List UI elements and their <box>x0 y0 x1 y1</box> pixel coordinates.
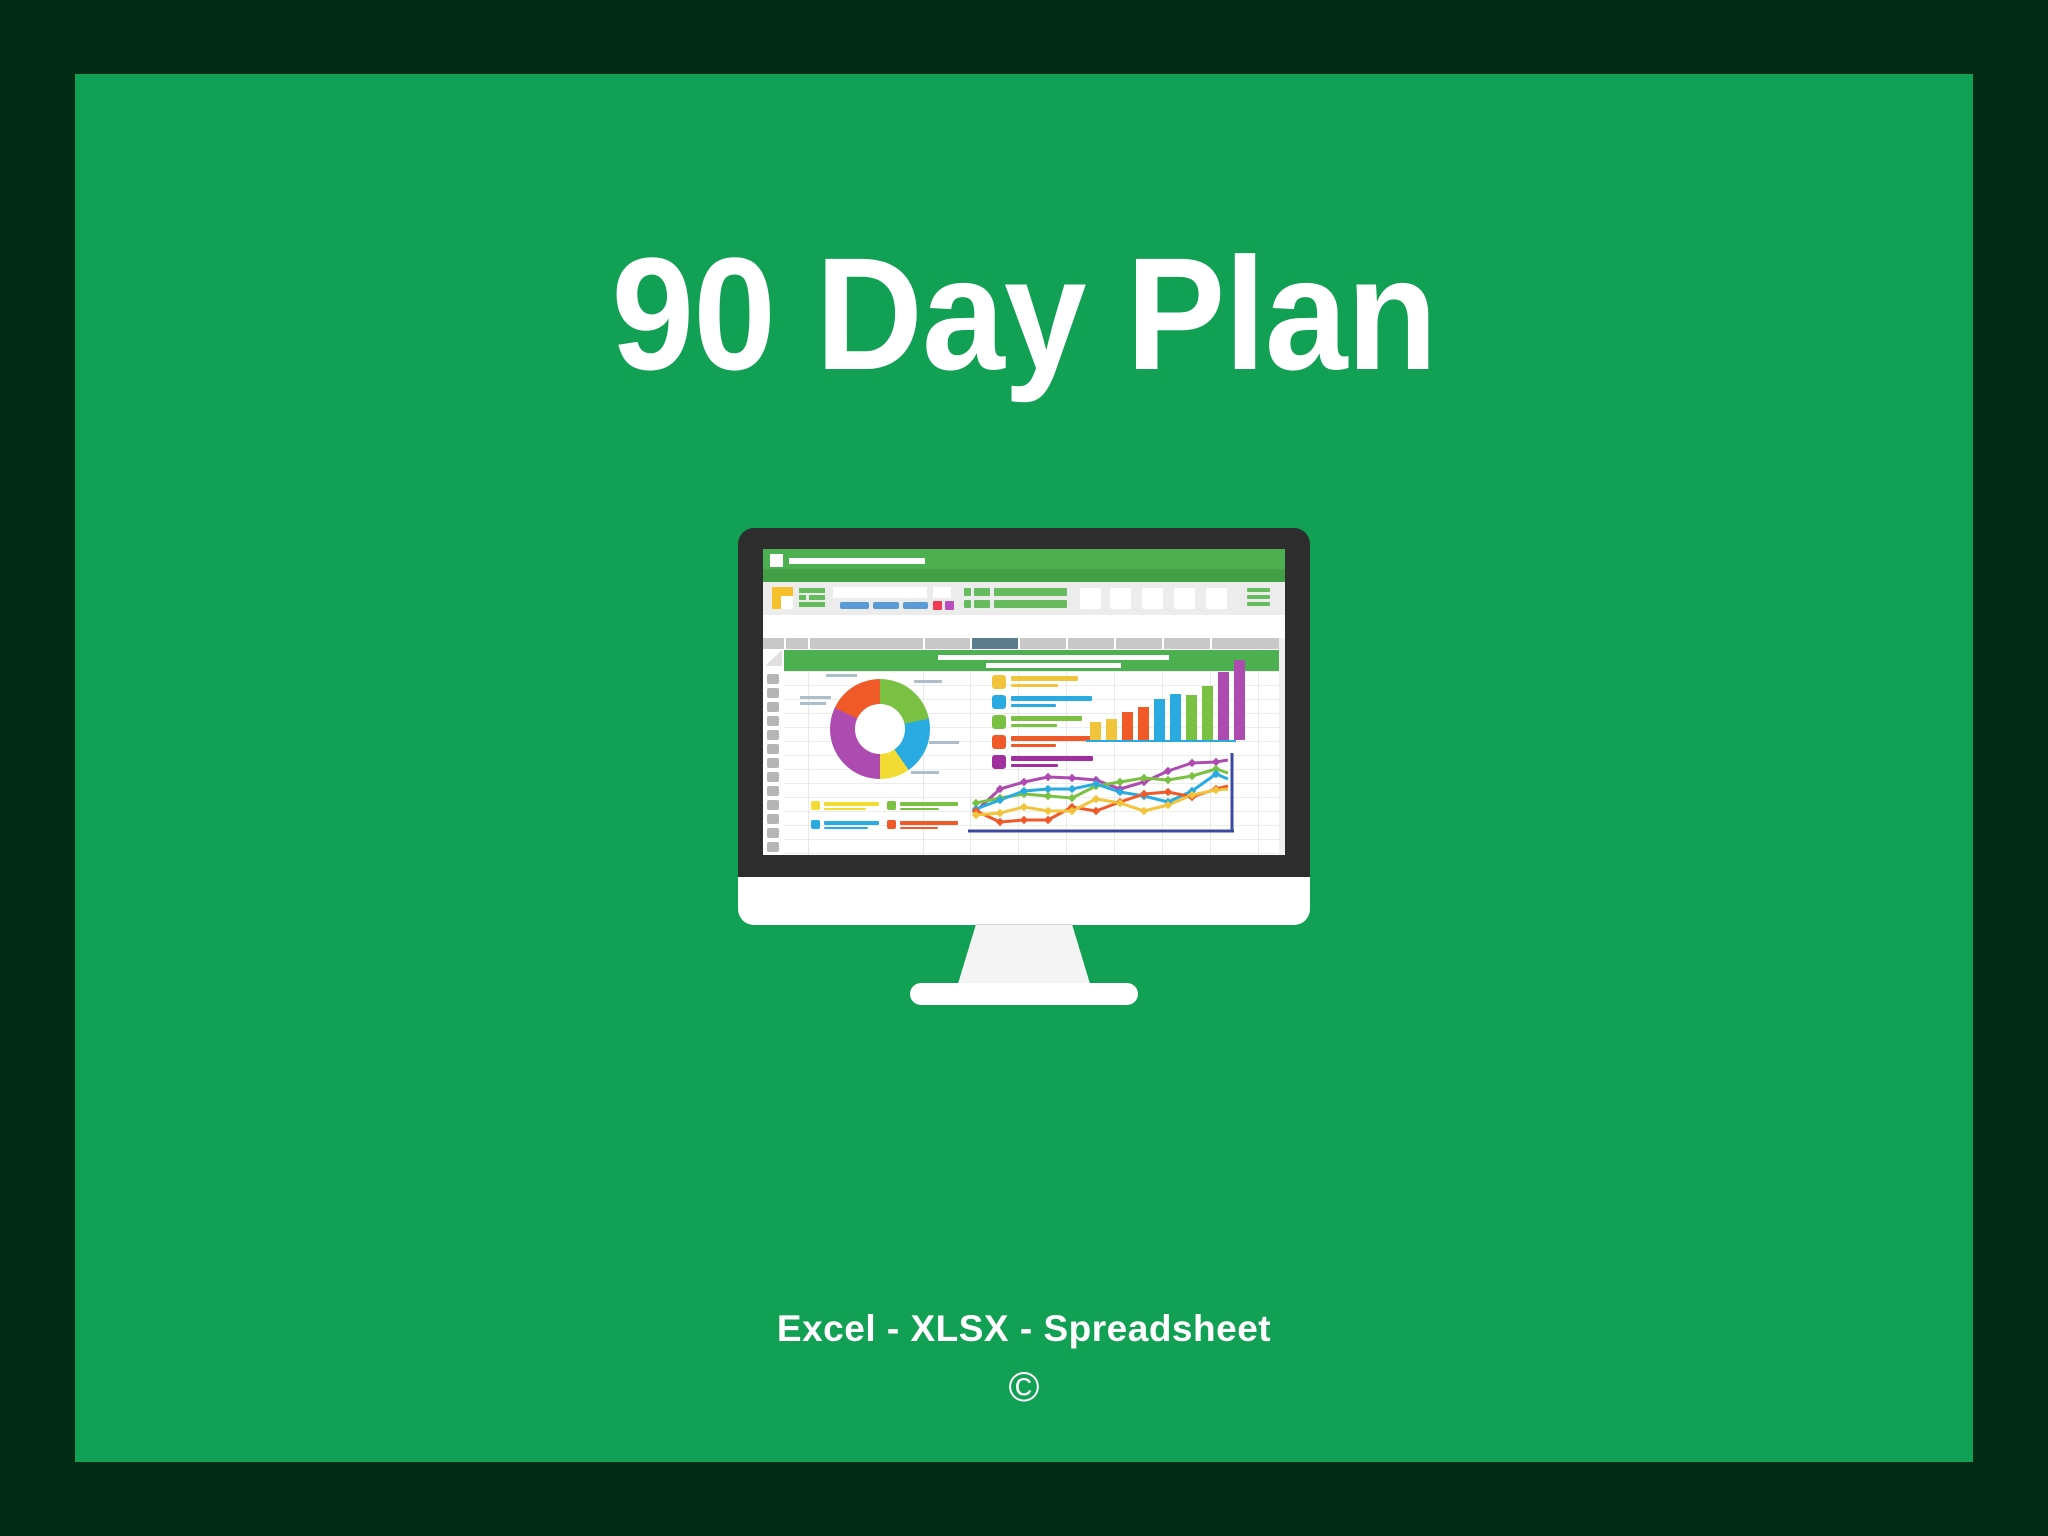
donut-legend-bar-sub <box>900 827 938 829</box>
bar-10[interactable] <box>1234 660 1245 740</box>
fill-color-swatch[interactable] <box>933 601 942 610</box>
donut-legend-swatch-green[interactable] <box>887 801 896 810</box>
grid-line <box>1258 649 1259 855</box>
row-header[interactable] <box>767 786 779 796</box>
series-legend-bar <box>1011 716 1082 721</box>
donut-legend-bar-sub <box>824 827 868 829</box>
bar-1[interactable] <box>1090 722 1101 740</box>
row-header[interactable] <box>767 842 779 852</box>
vertical-scrollbar[interactable] <box>1279 638 1285 855</box>
caption-text: Excel - XLSX - Spreadsheet <box>75 1309 1973 1350</box>
donut-legend-bar <box>824 821 879 825</box>
column-divider <box>1114 638 1116 649</box>
font-size-field[interactable] <box>933 587 951 598</box>
page-title: 90 Day Plan <box>141 234 1906 394</box>
series-legend-swatch-green[interactable] <box>992 715 1006 729</box>
text-color-swatch[interactable] <box>945 601 954 610</box>
font-bar-4[interactable] <box>799 602 825 607</box>
bar-3[interactable] <box>1122 712 1133 740</box>
row-header[interactable] <box>767 730 779 740</box>
series-legend-swatch-yellow[interactable] <box>992 675 1006 689</box>
hamburger-menu-icon-line3 <box>1247 602 1270 606</box>
monitor-stand-base <box>910 983 1138 1005</box>
monitor-illustration <box>738 528 1310 1005</box>
series-legend-bar <box>1011 676 1078 681</box>
font-name-field[interactable] <box>833 587 927 598</box>
cell-button-4[interactable] <box>1174 588 1195 609</box>
style-icon-3[interactable] <box>964 600 971 608</box>
poster-canvas: 90 Day Plan <box>0 0 2048 1536</box>
donut-callout-label <box>826 674 857 677</box>
cell-button-2[interactable] <box>1110 588 1131 609</box>
row-header[interactable] <box>767 688 779 698</box>
column-divider <box>1210 638 1212 649</box>
column-divider <box>1018 638 1020 649</box>
donut-legend-bar <box>900 802 958 806</box>
donut-callout-label <box>914 680 942 683</box>
row-header[interactable] <box>767 800 779 810</box>
cell-button-1[interactable] <box>1080 588 1101 609</box>
row-header[interactable] <box>767 828 779 838</box>
app-titlebar-secondary <box>763 569 1285 582</box>
donut-callout-label <box>929 741 959 744</box>
poster-inner-panel: 90 Day Plan <box>75 74 1973 1462</box>
document-name-bar <box>789 558 925 564</box>
column-divider <box>1162 638 1164 649</box>
row-header[interactable] <box>767 674 779 684</box>
bar-2[interactable] <box>1106 719 1117 740</box>
column-divider <box>1066 638 1068 649</box>
row-header[interactable] <box>767 758 779 768</box>
column-header-selected[interactable] <box>972 638 1018 649</box>
series-legend-bar-sub <box>1011 684 1058 687</box>
spreadsheet-screen <box>763 549 1285 855</box>
align-left-button[interactable] <box>840 602 869 609</box>
bar-chart[interactable] <box>1086 663 1236 743</box>
sheet-grid[interactable] <box>763 649 1285 855</box>
row-header[interactable] <box>767 744 779 754</box>
style-icon-4[interactable] <box>974 600 990 608</box>
font-bar-2[interactable] <box>799 595 806 600</box>
row-header[interactable] <box>767 814 779 824</box>
column-header-row <box>763 638 1285 649</box>
hamburger-menu-icon[interactable] <box>1247 588 1270 592</box>
formula-input[interactable] <box>861 621 1277 633</box>
donut-legend-swatch-yellow[interactable] <box>811 801 820 810</box>
line-chart-svg <box>966 745 1236 837</box>
cell-button-5[interactable] <box>1206 588 1227 609</box>
font-bar-1[interactable] <box>799 588 825 593</box>
bar-6[interactable] <box>1170 694 1181 740</box>
series-legend-bar <box>1011 696 1092 701</box>
section-title-line-1 <box>938 655 1169 660</box>
series-legend-swatch-blue[interactable] <box>992 695 1006 709</box>
monitor-stand-neck <box>957 925 1091 987</box>
row-header[interactable] <box>767 702 779 712</box>
donut-legend-swatch-blue[interactable] <box>811 820 820 829</box>
row-header[interactable] <box>767 716 779 726</box>
style-bar-1[interactable] <box>994 588 1067 596</box>
paste-icon-notch <box>781 596 793 609</box>
align-center-button[interactable] <box>873 602 899 609</box>
donut-callout-label <box>800 696 831 699</box>
hamburger-menu-icon-line2 <box>1247 595 1270 599</box>
series-legend-bar-sub <box>1011 704 1056 707</box>
column-divider <box>970 638 972 649</box>
donut-callout-label <box>911 771 939 774</box>
bar-7[interactable] <box>1186 695 1197 740</box>
grid-line <box>808 649 809 855</box>
ribbon-toolbar[interactable] <box>763 582 1285 615</box>
donut-callout-label <box>800 702 826 705</box>
donut-legend-bar <box>900 821 958 825</box>
copyright-symbol: © <box>75 1364 1973 1410</box>
bar-9[interactable] <box>1218 672 1229 740</box>
cell-button-3[interactable] <box>1142 588 1163 609</box>
donut-chart-hole <box>855 704 905 754</box>
style-bar-2[interactable] <box>994 600 1067 608</box>
name-box[interactable] <box>771 621 849 633</box>
bar-5[interactable] <box>1154 699 1165 740</box>
row-header[interactable] <box>767 772 779 782</box>
line-chart[interactable] <box>966 745 1236 837</box>
donut-legend-bar <box>824 802 879 806</box>
series-legend-bar <box>1011 736 1092 741</box>
column-divider <box>808 638 810 649</box>
style-icon-2[interactable] <box>974 588 990 596</box>
column-divider <box>923 638 925 649</box>
column-divider <box>784 638 786 649</box>
monitor-chin <box>738 877 1310 925</box>
font-bar-3[interactable] <box>809 595 825 600</box>
donut-legend-bar-sub <box>824 808 866 810</box>
bar-chart-axis <box>1086 740 1236 742</box>
excel-logo-icon <box>770 554 783 567</box>
align-right-button[interactable] <box>903 602 928 609</box>
bar-4[interactable] <box>1138 707 1149 740</box>
donut-legend-swatch-orange[interactable] <box>887 820 896 829</box>
donut-legend-bar-sub <box>900 808 939 810</box>
style-icon-1[interactable] <box>964 588 971 596</box>
bar-8[interactable] <box>1202 686 1213 740</box>
series-legend-bar-sub <box>1011 724 1057 727</box>
